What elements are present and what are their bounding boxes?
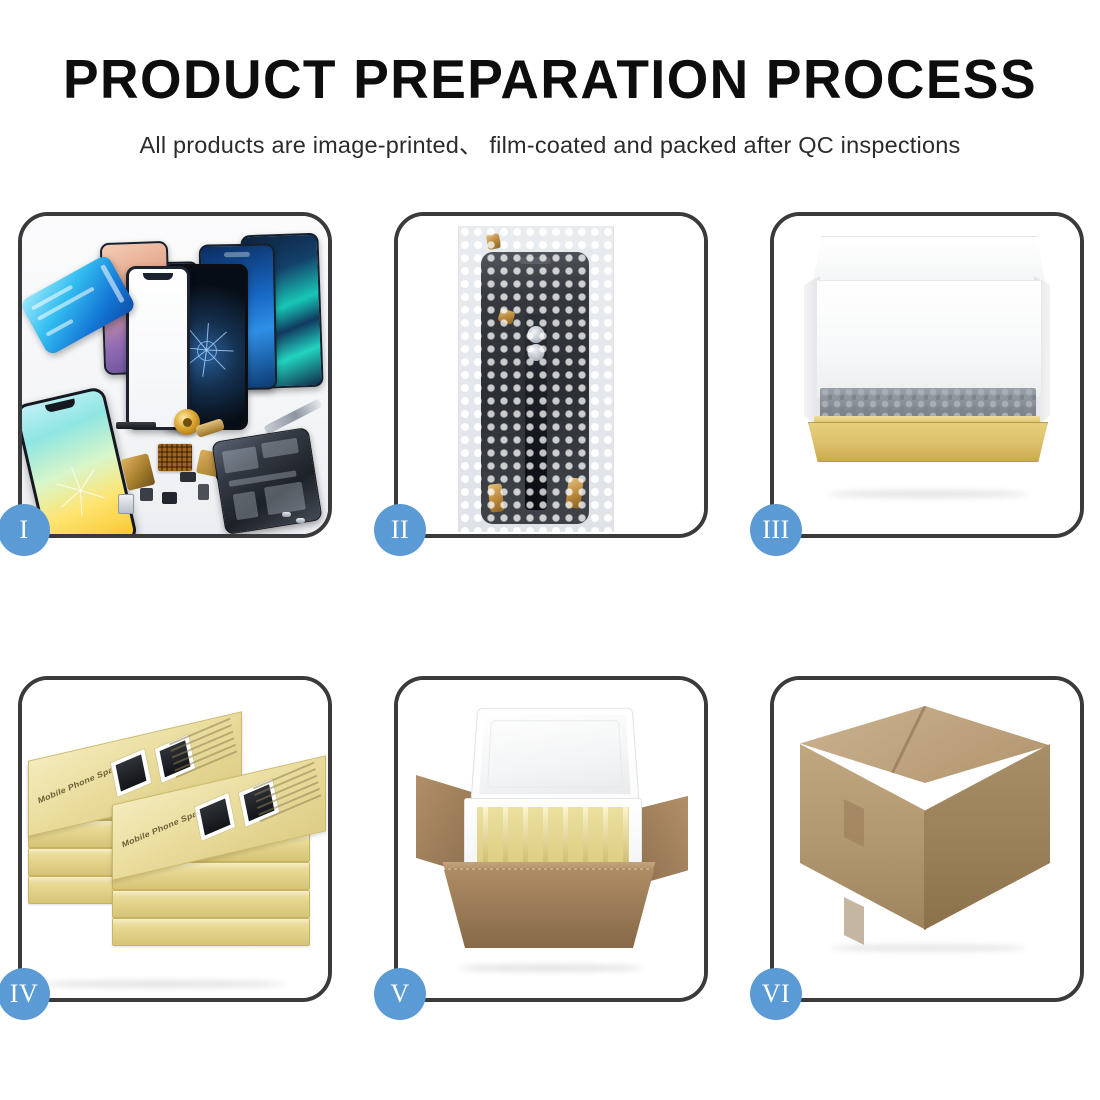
step-card-1: I	[18, 212, 332, 538]
scene-carton-loading	[398, 680, 704, 998]
step-badge-6: VI	[750, 968, 802, 1020]
mailer-box-front-wall	[808, 422, 1048, 462]
carton-shadow	[458, 964, 644, 972]
small-module-d-part	[198, 484, 209, 500]
mailer-box-open-lid	[812, 236, 1046, 286]
mailer-box-inner-wall	[816, 280, 1042, 398]
step-card-5: V	[394, 676, 708, 1002]
step-badge-3: III	[750, 504, 802, 556]
carton-front-wall	[444, 870, 654, 948]
phone-notch-icon	[224, 252, 250, 257]
step-image-4: Mobile Phone Spare Parts Mobile Phone Sp…	[22, 680, 328, 998]
process-steps-grid: I II	[18, 212, 1084, 1002]
step-card-4: Mobile Phone Spare Parts Mobile Phone Sp…	[18, 676, 332, 1002]
page-title: PRODUCT PREPARATION PROCESS	[17, 52, 1084, 107]
sealed-carton-shadow	[830, 944, 1026, 952]
bubble-wrap-bag	[458, 226, 614, 532]
mailer-box-shadow	[828, 490, 1028, 498]
phone-front-glass-panel	[126, 266, 190, 430]
step-card-3: III	[770, 212, 1084, 538]
foam-liner-lid	[470, 708, 639, 802]
page-subtitle: All products are image-printed、 film-coa…	[0, 126, 1100, 160]
scene-sealed-carton	[774, 680, 1080, 998]
retail-box-stack: Mobile Phone Spare Parts Mobile Phone Sp…	[28, 702, 328, 982]
box-product-thumb-3	[194, 792, 237, 843]
sim-tray-part	[118, 494, 134, 514]
step-image-2	[398, 216, 704, 534]
box-product-thumb-1	[110, 748, 153, 799]
box-spec-lines-back	[169, 718, 239, 787]
step-badge-1: I	[0, 504, 50, 556]
bright-crack-pattern-icon	[48, 458, 113, 523]
box-stack-shadow	[40, 980, 286, 988]
box-spec-lines-front	[253, 762, 323, 831]
scene-bubble-wrapped-screen	[398, 216, 704, 534]
scene-spare-parts	[22, 216, 328, 534]
sealed-shipping-carton	[786, 706, 1064, 958]
small-module-b-part	[140, 488, 153, 501]
bright-phone-notch-icon	[45, 398, 76, 413]
step-badge-4: IV	[0, 968, 50, 1020]
step-badge-2: II	[374, 504, 426, 556]
bubble-gloss-overlay	[459, 226, 613, 532]
carton-tape-lower	[844, 897, 864, 945]
page-header: PRODUCT PREPARATION PROCESS All products…	[0, 0, 1100, 160]
scene-foam-inner-box	[774, 216, 1080, 534]
step-card-2: II	[394, 212, 708, 538]
step-image-5	[398, 680, 704, 998]
stacked-box-right-5	[112, 918, 310, 946]
step-badge-5: V	[374, 968, 426, 1020]
packed-yellow-boxes	[477, 807, 629, 867]
stacked-box-right-4	[112, 890, 310, 918]
small-module-c-part	[162, 492, 177, 504]
scene-boxed-stack: Mobile Phone Spare Parts Mobile Phone Sp…	[22, 680, 328, 998]
ic-chip-grid-part	[158, 444, 192, 471]
earpiece-speaker-part	[116, 422, 156, 429]
step-image-6	[774, 680, 1080, 998]
glass-notch-icon	[143, 273, 173, 280]
small-module-a-part	[180, 472, 196, 482]
step-card-6: VI	[770, 676, 1084, 1002]
screws-part	[282, 512, 312, 524]
step-image-3	[774, 216, 1080, 534]
step-image-1	[22, 216, 328, 534]
